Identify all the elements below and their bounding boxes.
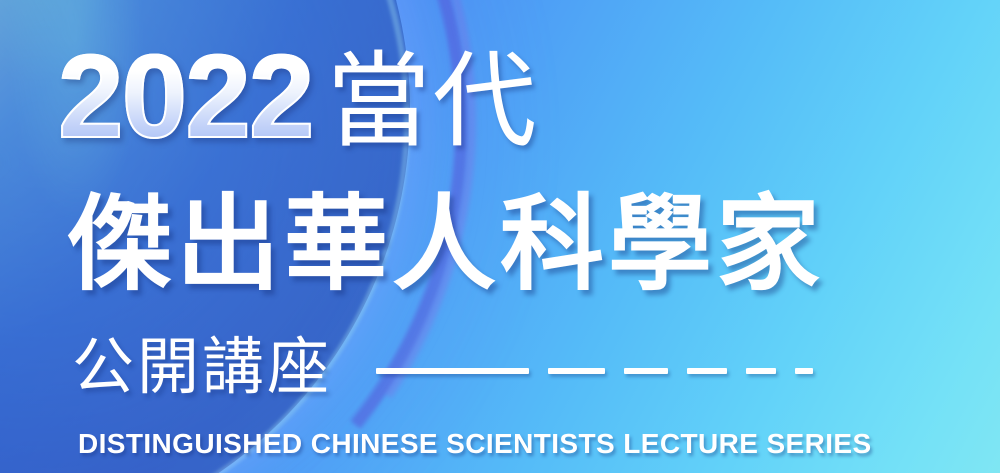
rule-dash-1 [376, 368, 529, 374]
subtitle-chinese: 公開講座 [72, 336, 332, 398]
year-text: 2022 [58, 38, 313, 156]
rule-dash-6 [795, 368, 813, 374]
page-title: 傑出華人科學家 [68, 188, 824, 300]
rule-dash-3 [624, 368, 668, 374]
subtitle-english: DISTINGUISHED CHINESE SCIENTISTS LECTURE… [78, 430, 872, 458]
era-text: 當代 [327, 50, 539, 154]
tapering-dashed-rule [376, 368, 813, 374]
subtitle-row: 公開講座 [72, 336, 813, 398]
rule-dash-2 [548, 368, 605, 374]
rule-dash-4 [687, 368, 727, 374]
year-and-era-row: 2022 當代 [58, 38, 539, 156]
banner-content: 2022 當代 傑出華人科學家 公開講座 DISTINGUISHED CHINE… [0, 0, 1000, 473]
rule-dash-5 [746, 368, 776, 374]
lecture-series-banner: 2022 當代 傑出華人科學家 公開講座 DISTINGUISHED CHINE… [0, 0, 1000, 473]
